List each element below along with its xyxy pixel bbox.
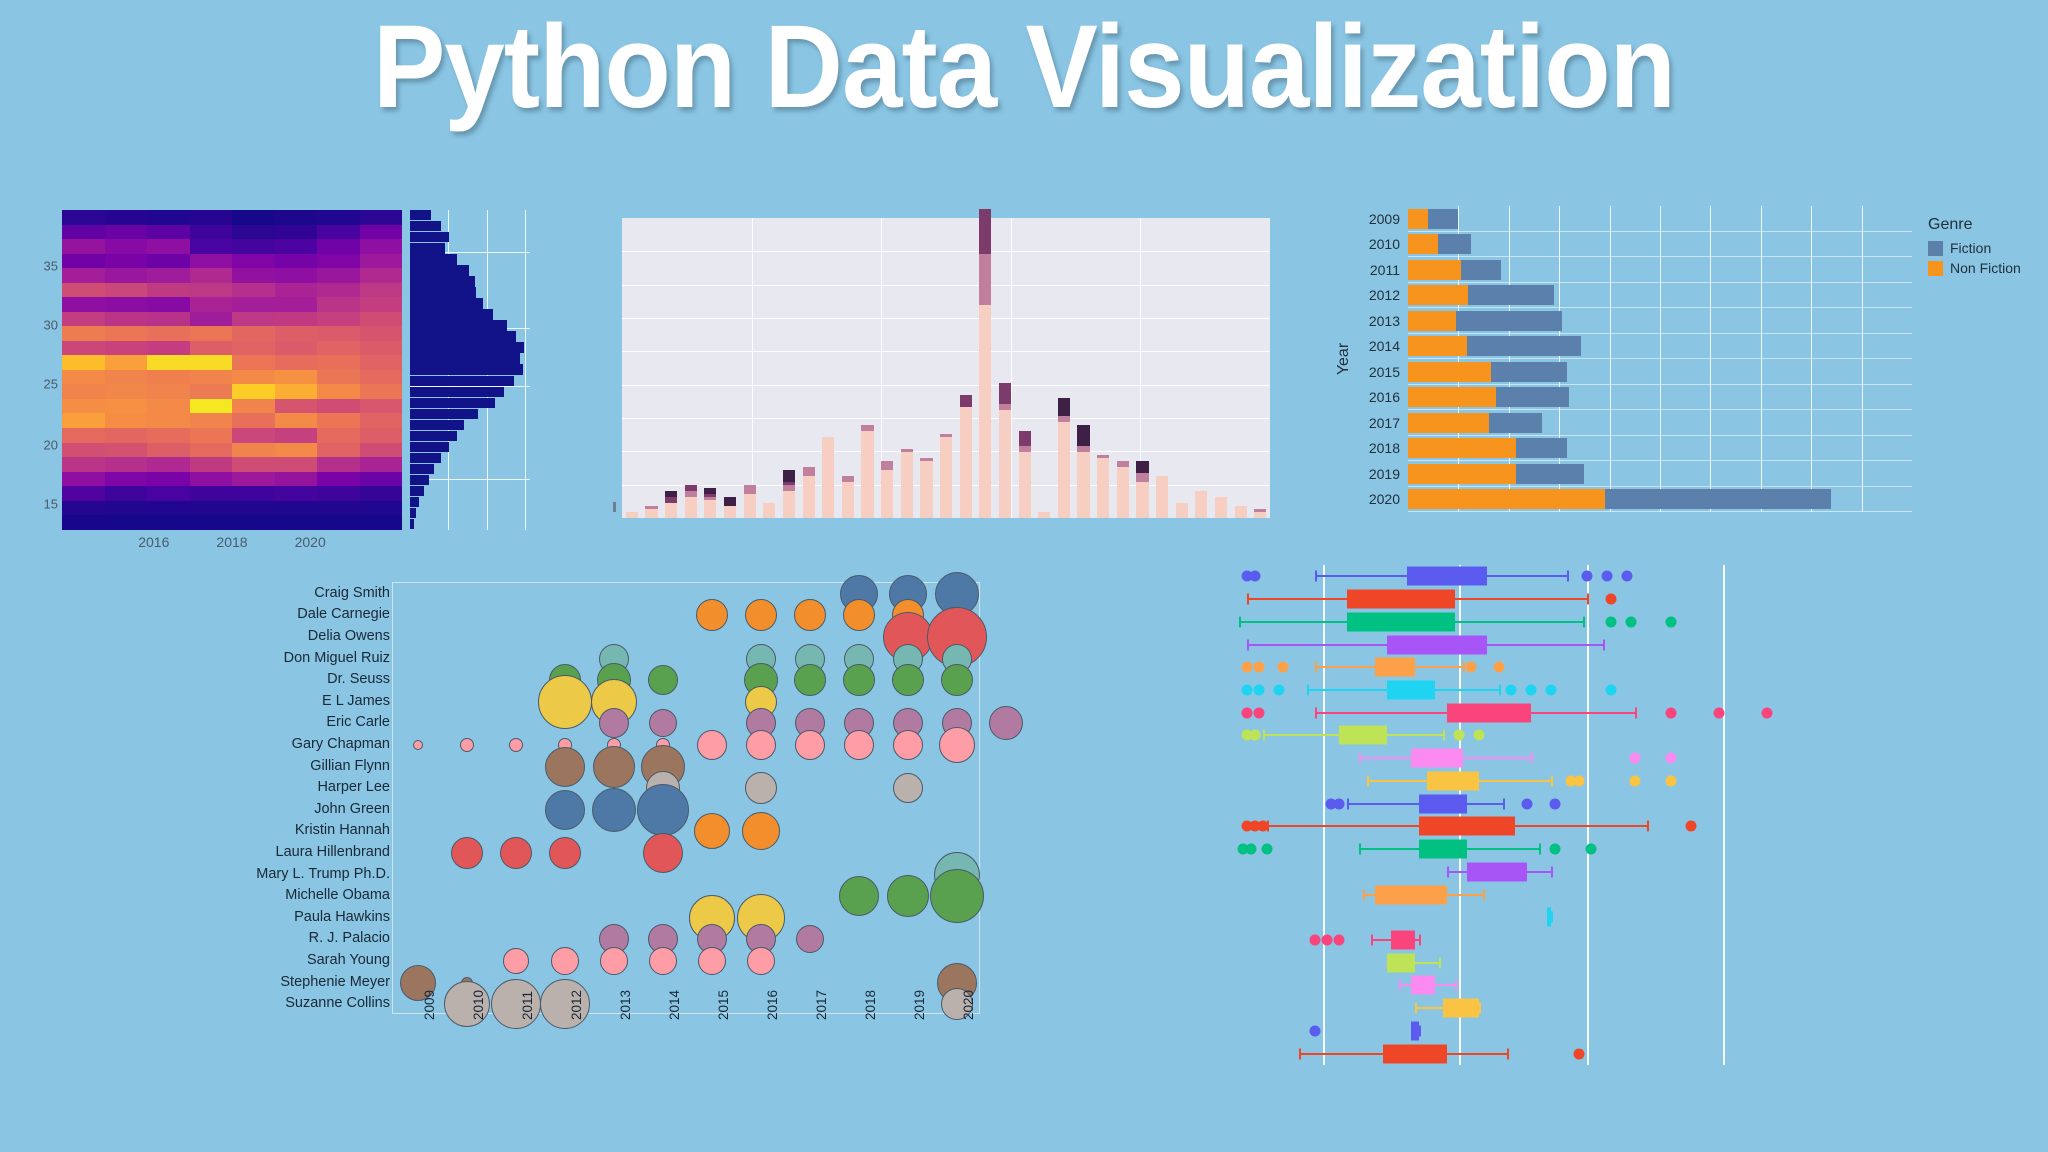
marginal-bar <box>410 497 419 507</box>
heatmap-cell <box>62 370 105 385</box>
marginal-bar <box>410 210 431 220</box>
boxplot-box <box>1467 862 1527 881</box>
bubble-point[interactable] <box>887 875 929 917</box>
bar-segment-fiction <box>1438 234 1471 254</box>
bubble-author-label: John Green <box>314 801 390 817</box>
bubble-point[interactable] <box>503 948 529 974</box>
histogram-segment <box>881 470 893 518</box>
bar-gridline <box>1811 206 1812 512</box>
bar-row[interactable] <box>1408 489 1831 509</box>
heatmap-cell <box>360 472 403 487</box>
bubble-point[interactable] <box>795 730 825 760</box>
bubble-author-label: Craig Smith <box>314 585 390 601</box>
bubble-point[interactable] <box>545 747 585 787</box>
histogram-segment <box>1156 476 1168 518</box>
histogram-segment <box>822 437 834 518</box>
heatmap-cell <box>275 501 318 516</box>
boxplot-row[interactable] <box>1235 565 1795 587</box>
marginal-bar <box>410 464 434 474</box>
boxplot-outlier <box>1574 1048 1585 1059</box>
bubble-x-tick: 2014 <box>667 990 682 1020</box>
histogram-segment <box>783 491 795 518</box>
histogram-segment <box>763 503 775 518</box>
bubble-author-label: Gillian Flynn <box>310 758 390 774</box>
bubble-author-label: Paula Hawkins <box>294 909 390 925</box>
boxplot-row[interactable] <box>1235 838 1795 860</box>
bubble-point[interactable] <box>742 812 780 850</box>
heatmap-cell <box>62 355 105 370</box>
boxplot-box <box>1411 749 1463 768</box>
heatmap-panel: 3530252015 201620182020 <box>62 210 532 550</box>
histogram-segment <box>724 506 736 518</box>
heatmap-cell <box>317 210 360 225</box>
boxplot-whisker-cap <box>1603 639 1605 650</box>
bar-gridline <box>1660 206 1661 512</box>
histogram-column <box>1074 218 1094 518</box>
heatmap-cell <box>360 239 403 254</box>
heatmap-cell <box>105 428 148 443</box>
heatmap-x-tick: 2018 <box>216 534 247 550</box>
heatmap-cell <box>105 210 148 225</box>
boxplot-outlier <box>1714 707 1725 718</box>
heatmap-cell <box>190 254 233 269</box>
heatmap-cell <box>105 472 148 487</box>
bubble-point[interactable] <box>794 664 826 696</box>
bubble-point[interactable] <box>551 947 579 975</box>
bar-row[interactable] <box>1408 234 1471 254</box>
heatmap-cell <box>275 486 318 501</box>
bubble-point[interactable] <box>747 947 775 975</box>
boxplot-row[interactable] <box>1235 906 1795 928</box>
boxplot-outlier <box>1254 707 1265 718</box>
heatmap-cell <box>147 326 190 341</box>
bubble-point[interactable] <box>796 925 824 953</box>
heatmap-cell <box>62 486 105 501</box>
boxplot-row[interactable] <box>1235 974 1795 996</box>
bubble-point[interactable] <box>509 738 523 752</box>
boxplot-row[interactable] <box>1235 815 1795 837</box>
boxplot-outlier <box>1574 775 1585 786</box>
heatmap-cell <box>275 457 318 472</box>
bubble-point[interactable] <box>794 599 826 631</box>
bubble-author-label: Suzanne Collins <box>285 995 390 1011</box>
bubble-point[interactable] <box>649 947 677 975</box>
heatmap-cell <box>147 210 190 225</box>
heatmap-cell <box>190 326 233 341</box>
heatmap-row <box>62 515 402 530</box>
bubble-author-label: Kristin Hannah <box>295 822 390 838</box>
histogram-column <box>1015 218 1035 518</box>
legend-item-fiction[interactable]: Fiction <box>1928 240 2038 256</box>
boxplot-outlier <box>1522 798 1533 809</box>
bubble-point[interactable] <box>549 837 581 869</box>
histogram-column <box>1133 218 1153 518</box>
bar-segment-non-fiction <box>1408 362 1491 382</box>
histogram-segment <box>999 410 1011 518</box>
histogram-segment <box>1195 491 1207 518</box>
boxplot-row[interactable] <box>1235 929 1795 951</box>
heatmap-cell <box>232 399 275 414</box>
boxplot-outlier <box>1310 935 1321 946</box>
boxplot-row[interactable] <box>1235 702 1795 724</box>
bubble-x-tick: 2011 <box>520 991 535 1020</box>
heatmap-row <box>62 384 402 399</box>
bar-row[interactable] <box>1408 209 1458 229</box>
heatmap-cell <box>190 384 233 399</box>
heatmap-cell <box>190 210 233 225</box>
bubble-point[interactable] <box>697 730 727 760</box>
heatmap-cell <box>360 283 403 298</box>
heatmap-cell <box>105 486 148 501</box>
bubble-point[interactable] <box>460 738 474 752</box>
boxplot-whisker-cap <box>1587 594 1589 605</box>
heatmap-row <box>62 472 402 487</box>
boxplot-outlier <box>1262 844 1273 855</box>
boxplot-row[interactable] <box>1235 952 1795 974</box>
bubble-point[interactable] <box>648 665 678 695</box>
boxplot-whisker-cap <box>1359 753 1361 764</box>
stacked-histogram-panel <box>622 218 1270 518</box>
heatmap-cell <box>232 501 275 516</box>
heatmap-cell <box>62 341 105 356</box>
dashboard-root: Python Data Visualization 3530252015 201… <box>0 0 2048 1152</box>
bubble-point[interactable] <box>694 813 730 849</box>
heatmap-cell <box>360 297 403 312</box>
heatmap-cell <box>317 428 360 443</box>
boxplot-outlier <box>1546 685 1557 696</box>
heatmap-cell <box>105 297 148 312</box>
heatmap-row <box>62 428 402 443</box>
page-title: Python Data Visualization <box>82 6 1966 130</box>
genre-bar-panel: Year 20092010201120122013201420152016201… <box>1352 200 1912 530</box>
histogram-segment <box>1136 482 1148 518</box>
boxplot-whisker-cap <box>1647 821 1649 832</box>
heatmap-y-tick: 30 <box>44 318 58 333</box>
heatmap-cell <box>275 268 318 283</box>
boxplot-outlier <box>1666 616 1677 627</box>
boxplot-box <box>1375 658 1415 677</box>
boxplot-outlier <box>1762 707 1773 718</box>
boxplot-row[interactable] <box>1235 1020 1795 1042</box>
bar-row[interactable] <box>1408 413 1542 433</box>
bubble-x-tick: 2009 <box>422 990 437 1020</box>
bubble-point[interactable] <box>643 833 683 873</box>
histogram-segment <box>744 494 756 518</box>
heatmap-cell <box>147 428 190 443</box>
bubble-x-tick: 2018 <box>863 990 878 1020</box>
heatmap-cell <box>360 341 403 356</box>
boxplot-row[interactable] <box>1235 770 1795 792</box>
heatmap-cell <box>147 341 190 356</box>
bubble-author-labels: Craig SmithDale CarnegieDelia OwensDon M… <box>270 578 390 1018</box>
bubble-point[interactable] <box>637 784 689 836</box>
heatmap-cell <box>360 254 403 269</box>
boxplot-whisker-cap <box>1551 775 1553 786</box>
boxplot-whisker-cap <box>1531 753 1533 764</box>
heatmap-cell <box>147 355 190 370</box>
histogram-column <box>1192 218 1212 518</box>
heatmap-cell <box>232 486 275 501</box>
boxplot-row[interactable] <box>1235 611 1795 633</box>
boxplot-row[interactable] <box>1235 679 1795 701</box>
bubble-author-label: Michelle Obama <box>285 887 390 903</box>
boxplot-box <box>1443 999 1479 1018</box>
bar-row[interactable] <box>1408 311 1562 331</box>
histogram-segment <box>979 209 991 254</box>
bubble-point[interactable] <box>696 599 728 631</box>
boxplot-whisker-cap <box>1399 980 1401 991</box>
heatmap-marginal-histogram <box>410 210 530 530</box>
boxplot-row[interactable] <box>1235 747 1795 769</box>
bubble-point[interactable] <box>600 947 628 975</box>
bubble-point[interactable] <box>941 664 973 696</box>
heatmap-cell <box>62 225 105 240</box>
bubble-point[interactable] <box>930 869 984 923</box>
heatmap-cell <box>275 283 318 298</box>
heatmap-row <box>62 326 402 341</box>
heatmap-row <box>62 297 402 312</box>
bubble-point[interactable] <box>745 772 777 804</box>
boxplot-whisker-cap <box>1447 866 1449 877</box>
heatmap-cell <box>105 443 148 458</box>
boxplot-outlier <box>1630 775 1641 786</box>
heatmap-row <box>62 268 402 283</box>
heatmap-cell <box>360 384 403 399</box>
bubble-point[interactable] <box>893 773 923 803</box>
bar-row-separator <box>1408 358 1912 359</box>
histogram-column <box>858 218 878 518</box>
bubble-point[interactable] <box>538 675 592 729</box>
boxplot-row[interactable] <box>1235 861 1795 883</box>
boxplot-row[interactable] <box>1235 793 1795 815</box>
heatmap-cell <box>190 239 233 254</box>
heatmap-cell <box>275 239 318 254</box>
bubble-point[interactable] <box>939 727 975 763</box>
heatmap-row <box>62 355 402 370</box>
histogram-segment <box>1019 452 1031 518</box>
boxplot-whisker-cap <box>1299 1048 1301 1059</box>
marginal-bar <box>410 265 469 275</box>
boxplot-outlier <box>1526 685 1537 696</box>
bar-segment-fiction <box>1428 209 1458 229</box>
heatmap-cell <box>105 341 148 356</box>
heatmap-cell <box>360 428 403 443</box>
bubble-point[interactable] <box>500 837 532 869</box>
boxplot-row[interactable] <box>1235 634 1795 656</box>
heatmap-cell <box>232 472 275 487</box>
boxplot-box <box>1391 931 1415 950</box>
histogram-column <box>701 218 721 518</box>
boxplot-row[interactable] <box>1235 588 1795 610</box>
bubble-x-tick: 2016 <box>765 990 780 1020</box>
bubble-point[interactable] <box>746 730 776 760</box>
boxplot-whisker-cap <box>1539 844 1541 855</box>
heatmap-cell <box>360 355 403 370</box>
boxplot-whisker-cap <box>1567 571 1569 582</box>
bubble-point[interactable] <box>593 746 635 788</box>
heatmap-cell <box>317 501 360 516</box>
boxplot-whisker-cap <box>1415 1003 1417 1014</box>
bar-y-tick: 2017 <box>1369 415 1400 431</box>
bubble-point[interactable] <box>843 664 875 696</box>
heatmap-cell <box>317 297 360 312</box>
marginal-bar <box>410 519 414 529</box>
boxplot-box <box>1375 885 1447 904</box>
marginal-bar <box>410 298 483 308</box>
boxplot-row[interactable] <box>1235 656 1795 678</box>
boxplot-whisker-cap <box>1455 980 1457 991</box>
bubble-plot-area <box>392 582 980 1014</box>
heatmap-cell <box>317 355 360 370</box>
histogram-column <box>936 218 956 518</box>
bubble-point[interactable] <box>893 730 923 760</box>
boxplot-outlier <box>1582 571 1593 582</box>
heatmap-cell <box>147 399 190 414</box>
histogram-segment <box>704 500 716 518</box>
boxplot-outlier <box>1626 616 1637 627</box>
boxplot-row[interactable] <box>1235 884 1795 906</box>
bubble-point[interactable] <box>451 837 483 869</box>
bubble-point[interactable] <box>745 599 777 631</box>
heatmap-cell <box>232 225 275 240</box>
marginal-gridline <box>525 210 526 530</box>
heatmap-cell <box>360 225 403 240</box>
heatmap-cell <box>62 384 105 399</box>
boxplot-whisker-cap <box>1551 912 1553 923</box>
bar-segment-fiction <box>1516 464 1584 484</box>
bubble-point[interactable] <box>989 706 1023 740</box>
heatmap-cell <box>317 254 360 269</box>
heatmap-cell <box>275 443 318 458</box>
legend-item-non-fiction[interactable]: Non Fiction <box>1928 260 2038 276</box>
heatmap-row <box>62 370 402 385</box>
boxplot-whisker-cap <box>1419 935 1421 946</box>
heatmap-cell <box>232 341 275 356</box>
histogram-segment <box>1235 506 1247 518</box>
heatmap-cell <box>190 472 233 487</box>
bar-y-tick: 2019 <box>1369 466 1400 482</box>
bar-segment-fiction <box>1468 285 1554 305</box>
boxplot-whisker-cap <box>1247 594 1249 605</box>
bar-segment-non-fiction <box>1408 311 1456 331</box>
boxplot-outlier <box>1602 571 1613 582</box>
heatmap-cell <box>190 428 233 443</box>
bar-y-tick: 2013 <box>1369 313 1400 329</box>
boxplot-box <box>1411 1021 1419 1040</box>
bubble-point[interactable] <box>592 788 636 832</box>
bubble-point[interactable] <box>698 947 726 975</box>
bubble-point[interactable] <box>839 876 879 916</box>
bar-row[interactable] <box>1408 387 1569 407</box>
bar-row[interactable] <box>1408 336 1581 356</box>
heatmap-cell <box>147 370 190 385</box>
heatmap-row <box>62 210 402 225</box>
boxplot-whisker-cap <box>1635 707 1637 718</box>
heatmap-cell <box>317 341 360 356</box>
bar-row[interactable] <box>1408 362 1567 382</box>
heatmap-cell <box>147 413 190 428</box>
heatmap-cell <box>62 297 105 312</box>
heatmap-row <box>62 239 402 254</box>
heatmap-cell <box>147 486 190 501</box>
heatmap-cell <box>275 428 318 443</box>
bubble-point[interactable] <box>844 730 874 760</box>
bar-segment-non-fiction <box>1408 234 1438 254</box>
boxplot-outlier <box>1310 1025 1321 1036</box>
bar-segment-fiction <box>1489 413 1542 433</box>
bar-row[interactable] <box>1408 464 1584 484</box>
heatmap-cell <box>317 443 360 458</box>
boxplot-outlier <box>1274 685 1285 696</box>
histogram-column <box>917 218 937 518</box>
boxplot-outlier <box>1630 753 1641 764</box>
marginal-bar <box>410 376 514 386</box>
bubble-point[interactable] <box>413 740 423 750</box>
bubble-point[interactable] <box>892 664 924 696</box>
boxplot-panel <box>1235 565 1795 1065</box>
bar-row[interactable] <box>1408 438 1567 458</box>
boxplot-whisker-cap <box>1503 798 1505 809</box>
marginal-bar <box>410 420 464 430</box>
bar-segment-non-fiction <box>1408 336 1467 356</box>
heatmap-cell <box>105 457 148 472</box>
histogram-segment <box>842 482 854 518</box>
bar-segment-non-fiction <box>1408 209 1428 229</box>
histogram-column <box>779 218 799 518</box>
bubble-point[interactable] <box>599 708 629 738</box>
bar-gridline <box>1710 206 1711 512</box>
bar-row[interactable] <box>1408 260 1501 280</box>
boxplot-whisker-cap <box>1583 616 1585 627</box>
marginal-bar <box>410 387 504 397</box>
bubble-author-label: Delia Owens <box>308 628 390 644</box>
boxplot-whisker-cap <box>1499 685 1501 696</box>
bubble-x-tick: 2013 <box>618 990 633 1020</box>
heatmap-cell <box>105 501 148 516</box>
boxplot-row[interactable] <box>1235 997 1795 1019</box>
boxplot-whisker-cap <box>1359 844 1361 855</box>
boxplot-row[interactable] <box>1235 1043 1795 1065</box>
marginal-bar <box>410 409 478 419</box>
histogram-segment <box>1254 512 1266 518</box>
bar-row-separator <box>1408 307 1912 308</box>
marginal-bar <box>410 431 457 441</box>
marginal-bar <box>410 398 495 408</box>
bubble-point[interactable] <box>545 790 585 830</box>
heatmap-cell <box>360 501 403 516</box>
boxplot-outlier <box>1622 571 1633 582</box>
bar-segment-fiction <box>1461 260 1501 280</box>
histogram-column <box>1113 218 1133 518</box>
bar-row[interactable] <box>1408 285 1554 305</box>
histogram-column <box>759 218 779 518</box>
bubble-point[interactable] <box>649 709 677 737</box>
marginal-bar <box>410 254 457 264</box>
heatmap-x-tick: 2016 <box>138 534 169 550</box>
histogram-column <box>681 218 701 518</box>
boxplot-row[interactable] <box>1235 724 1795 746</box>
bubble-point[interactable] <box>843 599 875 631</box>
heatmap-cell <box>317 457 360 472</box>
heatmap-cell <box>190 341 233 356</box>
heatmap-cell <box>275 297 318 312</box>
bar-segment-non-fiction <box>1408 387 1496 407</box>
bar-segment-non-fiction <box>1408 260 1461 280</box>
heatmap-cell <box>190 297 233 312</box>
heatmap-cell <box>360 399 403 414</box>
bubble-author-label: Harper Lee <box>317 779 390 795</box>
bar-y-tick: 2016 <box>1369 389 1400 405</box>
